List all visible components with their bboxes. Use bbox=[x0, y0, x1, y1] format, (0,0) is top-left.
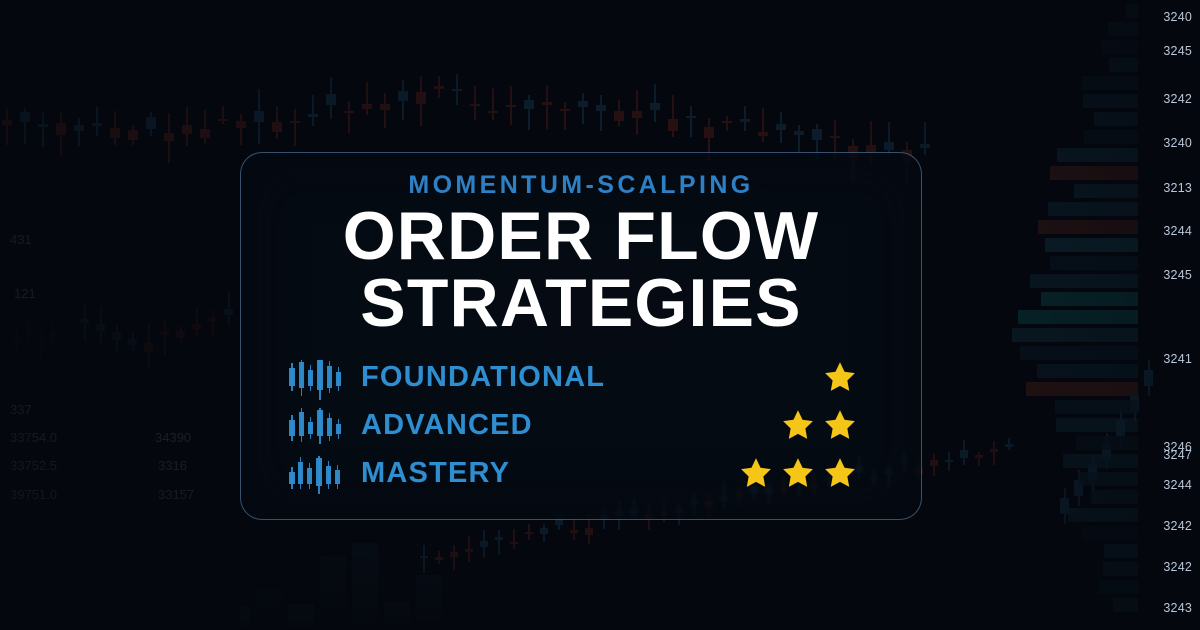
price-value: 3245 bbox=[1163, 44, 1192, 58]
mini-candle-wick bbox=[319, 408, 321, 444]
mini-candle-wick bbox=[337, 465, 339, 489]
price-value: 3244 bbox=[1163, 224, 1192, 238]
price-ladder-row: 3245 bbox=[1163, 44, 1192, 58]
price-ladder-row: 3244 bbox=[1163, 224, 1192, 238]
price-ladder-row: 3244 bbox=[1163, 478, 1192, 492]
order-book-value: 34390 bbox=[155, 430, 191, 445]
star-icon bbox=[739, 456, 773, 490]
level-star-rating bbox=[781, 408, 857, 442]
price-value: 3242 bbox=[1163, 560, 1192, 574]
mini-candle-wick bbox=[291, 467, 293, 489]
price-ladder: 3240324532423240321332443245324132473246… bbox=[1138, 0, 1200, 630]
level-row-mastery[interactable]: MASTERY bbox=[287, 449, 885, 497]
mini-candle-wick bbox=[338, 367, 340, 391]
price-ladder-row: 3242 bbox=[1163, 92, 1192, 106]
promo-graphic: 43112133733754.03439033752.5331639751.03… bbox=[0, 0, 1200, 630]
price-value: 3246 bbox=[1163, 440, 1192, 454]
mini-candle-wick bbox=[318, 456, 320, 494]
order-book-value: 33157 bbox=[158, 487, 194, 502]
order-book-value: 33754.0 bbox=[10, 430, 57, 445]
order-book-value: 431 bbox=[10, 232, 32, 247]
mini-candle-wick bbox=[291, 363, 293, 391]
order-book-value: 33752.5 bbox=[10, 458, 57, 473]
star-icon bbox=[823, 360, 857, 394]
card-title-line1: ORDER FLOW bbox=[343, 198, 820, 274]
mini-candle-wick bbox=[309, 463, 311, 489]
mini-candle-wick bbox=[319, 360, 321, 400]
level-star-rating bbox=[739, 456, 857, 490]
price-value: 3242 bbox=[1163, 519, 1192, 533]
mini-candle-wick bbox=[310, 417, 312, 439]
price-value: 3243 bbox=[1163, 601, 1192, 615]
price-value: 3240 bbox=[1163, 10, 1192, 24]
level-list: FOUNDATIONALADVANCEDMASTERY bbox=[287, 353, 885, 497]
candlestick-icon bbox=[287, 456, 345, 490]
star-icon bbox=[823, 456, 857, 490]
price-ladder-row: 3240 bbox=[1163, 136, 1192, 150]
mini-candle-wick bbox=[300, 457, 302, 489]
price-value: 3240 bbox=[1163, 136, 1192, 150]
mini-candle-wick bbox=[301, 408, 303, 442]
candlestick-icon bbox=[287, 360, 345, 394]
price-ladder-row: 3242 bbox=[1163, 519, 1192, 533]
order-book-value: 39751.0 bbox=[10, 487, 57, 502]
price-ladder-row: 3241 bbox=[1163, 352, 1192, 366]
price-ladder-row: 3245 bbox=[1163, 268, 1192, 282]
level-star-rating bbox=[823, 360, 857, 394]
price-value: 3241 bbox=[1163, 352, 1192, 366]
mini-candle-wick bbox=[310, 365, 312, 391]
level-row-advanced[interactable]: ADVANCED bbox=[287, 401, 885, 449]
mini-candle-wick bbox=[329, 361, 331, 393]
star-icon bbox=[781, 408, 815, 442]
price-ladder-row: 3213 bbox=[1163, 181, 1192, 195]
mini-candle-wick bbox=[328, 461, 330, 489]
star-icon bbox=[823, 408, 857, 442]
order-book-value: 121 bbox=[14, 286, 36, 301]
star-icon bbox=[781, 456, 815, 490]
price-value: 3242 bbox=[1163, 92, 1192, 106]
level-row-foundational[interactable]: FOUNDATIONAL bbox=[287, 353, 885, 401]
price-ladder-row: 3243 bbox=[1163, 601, 1192, 615]
card-kicker: MOMENTUM-SCALPING bbox=[241, 171, 921, 200]
card-title: ORDER FLOW STRATEGIES bbox=[241, 203, 921, 336]
price-value: 3245 bbox=[1163, 268, 1192, 282]
mini-candle-wick bbox=[291, 415, 293, 441]
price-value: 3244 bbox=[1163, 478, 1192, 492]
card-title-line2: STRATEGIES bbox=[241, 270, 921, 337]
course-card: MOMENTUM-SCALPING ORDER FLOW STRATEGIES … bbox=[240, 152, 922, 520]
order-book-value: 3316 bbox=[158, 458, 187, 473]
price-ladder-row: 3242 bbox=[1163, 560, 1192, 574]
price-value: 3213 bbox=[1163, 181, 1192, 195]
price-ladder-row: 3240 bbox=[1163, 10, 1192, 24]
mini-candle-wick bbox=[329, 413, 331, 441]
mini-candle-wick bbox=[338, 419, 340, 439]
price-ladder-row: 3246 bbox=[1163, 440, 1192, 454]
level-label: FOUNDATIONAL bbox=[361, 361, 885, 394]
mini-candle-wick bbox=[301, 360, 303, 396]
candlestick-icon bbox=[287, 408, 345, 442]
order-book-value: 337 bbox=[10, 402, 32, 417]
